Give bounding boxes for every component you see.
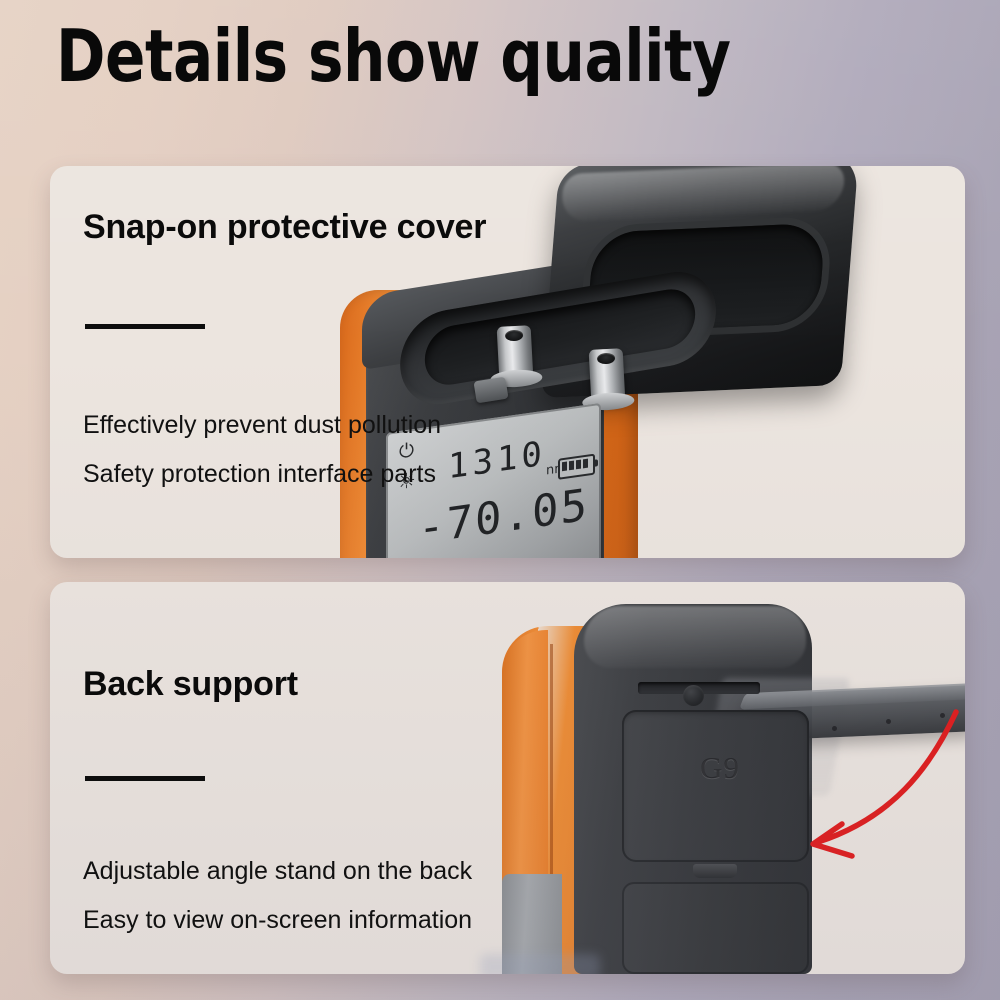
battery-bar	[569, 461, 574, 471]
list-item: Effectively prevent dust pollution	[83, 401, 441, 450]
feature-list: Adjustable angle stand on the back Easy …	[83, 847, 472, 945]
battery-bar	[576, 460, 581, 470]
list-item: Adjustable angle stand on the back	[83, 847, 472, 896]
heading-rule	[85, 776, 205, 781]
card-text-block: Back support Adjustable angle stand on t…	[83, 582, 553, 974]
battery-bar	[583, 459, 588, 469]
compartment-release-tab	[693, 864, 737, 878]
feature-list: Effectively prevent dust pollution Safet…	[83, 401, 441, 499]
battery-compartment-panel	[622, 710, 809, 862]
battery-icon	[558, 454, 595, 480]
feature-card-snap-on-protective-cover: ⏻ ☼ 1310 nm -70.05 Snap-on protective co…	[50, 166, 965, 558]
screw-icon	[683, 685, 704, 706]
model-label: G9	[700, 752, 740, 783]
page-title: Details show quality	[56, 14, 731, 98]
product-detail-page: Details show quality ⏻ ☼ 1310 nm	[0, 0, 1000, 1000]
kickstand-detent	[832, 726, 837, 731]
lower-rear-panel	[622, 882, 809, 974]
card-heading: Snap-on protective cover	[83, 207, 486, 247]
fiber-port-right	[589, 348, 626, 404]
card-text-block: Snap-on protective cover Effectively pre…	[83, 166, 553, 558]
kickstand-detent	[940, 713, 945, 718]
card-heading: Back support	[83, 664, 298, 704]
battery-bar	[562, 462, 567, 472]
heading-rule	[85, 324, 205, 329]
device-top-gloss	[584, 606, 806, 668]
kickstand-detent	[886, 719, 891, 724]
list-item: Safety protection interface parts	[83, 450, 441, 499]
list-item: Easy to view on-screen information	[83, 896, 472, 945]
feature-card-back-support: G9 Back support Adjustable angle stand o…	[50, 582, 965, 974]
